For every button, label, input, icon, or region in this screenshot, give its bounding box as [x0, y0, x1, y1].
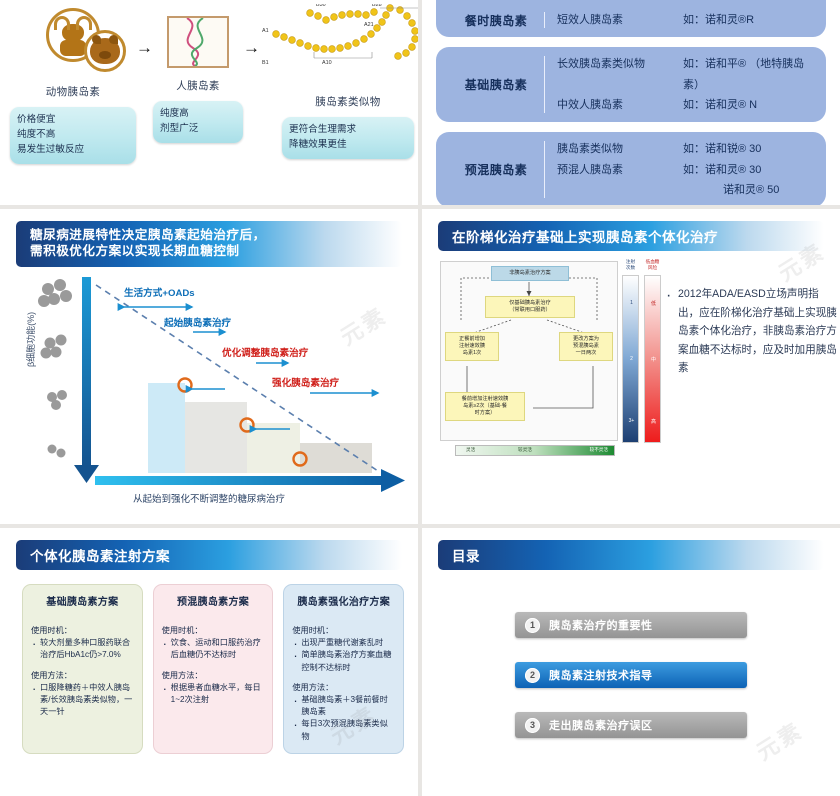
when-label: 使用时机： [162, 624, 265, 636]
toc-number: 1 [525, 618, 540, 633]
dna-helix-icon [167, 16, 229, 68]
evolution-column-animal: 动物胰岛素 价格便宜 纯度不高 易发生过敏反应 [10, 4, 136, 164]
beta-cell-chart: β细胞功能(%) 生活方式+OADs 起始胰岛素治疗 优化调整胰岛素治疗 强化胰… [0, 271, 418, 509]
flexibility-legend: 灵活 较灵活 较不灵活 [455, 445, 615, 456]
row-items: 短效人胰岛素 如：诺和灵®R [557, 10, 814, 30]
insulin-example: 诺和灵® 50 [723, 180, 779, 200]
toc-number: 2 [525, 668, 540, 683]
insulin-example: 如：诺和灵® N [683, 95, 757, 115]
list-item: 简单胰岛素治疗方案血糖控制不达标时 [292, 649, 395, 674]
slide-insulin-types: 餐时胰岛素 短效人胰岛素 如：诺和灵®R 基础胰岛素 长效胰岛素类似物 如：诺和… [422, 0, 840, 205]
flow-node-basal-only: 仅基础胰岛素治疗（常联用口服药） [485, 296, 575, 318]
tick: 2 [623, 356, 640, 362]
slide-table-of-contents: 目录 1 胰岛素治疗的重要性 2 胰岛素注射技术指导 3 走出胰岛素治疗误区 元… [422, 528, 840, 796]
regimen-card-basal: 基础胰岛素方案 使用时机： 较大剂量多种口服药联合治疗后HbA1c仍>7.0% … [22, 584, 143, 754]
algorithm-bullets: 2012年ADA/EASD立场声明指出，应在阶梯化治疗基础上实现胰岛素个体化治疗… [666, 285, 838, 378]
list-item: 2012年ADA/EASD立场声明指出，应在阶梯化治疗基础上实现胰岛素个体化治疗… [666, 285, 838, 378]
page-title: 在阶梯化治疗基础上实现胰岛素个体化治疗 [438, 221, 824, 251]
when-label: 使用时机： [31, 624, 134, 636]
bullets-animal-insulin: 价格便宜 纯度不高 易发生过敏反应 [10, 107, 136, 164]
evolution-diagram: 动物胰岛素 价格便宜 纯度不高 易发生过敏反应 → [0, 0, 418, 205]
slide-regimen-cards: 个体化胰岛素注射方案 基础胰岛素方案 使用时机： 较大剂量多种口服药联合治疗后H… [0, 528, 418, 796]
bracket-divider [544, 12, 545, 28]
when-list: 出现严重糖代谢紊乱时 简单胰岛素治疗方案血糖控制不达标时 [292, 637, 395, 674]
annotation-lifestyle-oads: 生活方式+OADs [124, 285, 195, 299]
svg-text:A10: A10 [322, 60, 332, 66]
annotation-optimize-insulin: 优化调整胰岛素治疗 [222, 345, 308, 359]
list-item: 每日3次预混胰岛素类似物 [292, 718, 395, 743]
injection-count-bar: 1 2 3+ [622, 275, 639, 443]
tick: 3+ [623, 418, 640, 424]
how-list: 基础胰岛素＋3餐前餐时胰岛素 每日3次预混胰岛素类似物 [292, 694, 395, 743]
x-axis-label: 从起始到强化不断调整的糖尿病治疗 [0, 491, 418, 505]
regimen-card-list: 基础胰岛素方案 使用时机： 较大剂量多种口服药联合治疗后HbA1c仍>7.0% … [0, 570, 418, 754]
insulin-kind: 胰岛素类似物 [557, 139, 683, 159]
insulin-kind: 预混人胰岛素 [557, 160, 683, 180]
insulin-example: 如：诺和锐® 30 [683, 139, 761, 159]
bullet: 更符合生理需求 [289, 123, 407, 138]
list-item: 较大剂量多种口服药联合治疗后HbA1c仍>7.0% [31, 637, 134, 662]
cow-pig-icon [10, 4, 136, 80]
insulin-example: 如：诺和灵®R [683, 10, 754, 30]
legend-label-semi-flexible: 较灵活 [518, 447, 532, 453]
caption-human-insulin: 人胰岛素 [153, 78, 243, 93]
card-heading: 基础胰岛素方案 [31, 593, 134, 608]
toc-number: 3 [525, 718, 540, 733]
insulin-kind [557, 180, 683, 200]
row-label: 餐时胰岛素 [448, 12, 544, 29]
legend-label-flexible: 灵活 [466, 447, 475, 453]
slide-beta-cell-decline: 糖尿病进展特性决定胰岛素起始治疗后， 需积极优化方案以实现长期血糖控制 [0, 209, 418, 524]
tick: 中 [645, 356, 662, 363]
table-row: 预混胰岛素 胰岛素类似物 如：诺和锐® 30 预混人胰岛素 如：诺和灵® 30 … [436, 132, 826, 205]
tick: 高 [645, 418, 662, 425]
row-items: 胰岛素类似物 如：诺和锐® 30 预混人胰岛素 如：诺和灵® 30 诺和灵® 5… [557, 139, 814, 200]
list-item: 口服降糖药＋中效人胰岛素/长效胰岛素类似物，一天一针 [31, 682, 134, 719]
insulin-chain-icon: A1A10A21 B1B10B20 B28B30 [260, 4, 418, 90]
slide-individualized-algorithm: 在阶梯化治疗基础上实现胰岛素个体化治疗 [422, 209, 840, 524]
bullet: 剂型广泛 [160, 122, 236, 137]
how-list: 口服降糖药＋中效人胰岛素/长效胰岛素类似物，一天一针 [31, 682, 134, 719]
y-axis-label: β细胞功能(%) [24, 312, 37, 367]
list-item: 预混人胰岛素 如：诺和灵® 30 [557, 160, 814, 180]
annotation-initiate-insulin: 起始胰岛素治疗 [164, 315, 231, 329]
insulin-example: 如：诺和平® （地特胰岛素） [683, 54, 814, 95]
regimen-card-intensive: 胰岛素强化治疗方案 使用时机： 出现严重糖代谢紊乱时 简单胰岛素治疗方案血糖控制… [283, 584, 404, 754]
when-label: 使用时机： [292, 624, 395, 636]
insulin-type-table: 餐时胰岛素 短效人胰岛素 如：诺和灵®R 基础胰岛素 长效胰岛素类似物 如：诺和… [422, 0, 840, 205]
legend-label-less-flexible: 较不灵活 [590, 447, 608, 453]
toc-item-2[interactable]: 2 胰岛素注射技术指导 [515, 662, 747, 688]
annotation-intensify-insulin: 强化胰岛素治疗 [272, 375, 339, 389]
how-list: 根据患者血糖水平，每日1~2次注射 [162, 682, 265, 707]
caption-animal-insulin: 动物胰岛素 [10, 84, 136, 99]
table-row: 餐时胰岛素 短效人胰岛素 如：诺和灵®R [436, 0, 826, 37]
list-item: 诺和灵® 50 [557, 180, 814, 200]
toc-label: 走出胰岛素治疗误区 [549, 717, 653, 733]
bullet: 纯度高 [160, 107, 236, 122]
list-item: 胰岛素类似物 如：诺和锐® 30 [557, 139, 814, 159]
when-list: 较大剂量多种口服药联合治疗后HbA1c仍>7.0% [31, 637, 134, 662]
flow-node-basal-bolus: 餐前增加注射速效胰岛素≥2次（基础-餐时方案） [445, 392, 525, 421]
bullet: 易发生过敏反应 [17, 143, 129, 158]
toc-label: 胰岛素注射技术指导 [549, 667, 653, 683]
toc-item-3[interactable]: 3 走出胰岛素治疗误区 [515, 712, 747, 738]
title-line-1: 糖尿病进展特性决定胰岛素起始治疗后， [30, 228, 266, 244]
bullets-human-insulin: 纯度高 剂型广泛 [153, 101, 243, 143]
when-list: 饮食、运动和口服药治疗后血糖仍不达标时 [162, 637, 265, 662]
arrow-icon: → [136, 4, 153, 58]
arrow-icon-2: → [243, 4, 260, 58]
list-item: 根据患者血糖水平，每日1~2次注射 [162, 682, 265, 707]
title-line-2: 需积极优化方案以实现长期血糖控制 [30, 244, 240, 260]
svg-text:A21: A21 [364, 22, 374, 28]
caption-insulin-analog: 胰岛素类似物 [260, 94, 418, 109]
slide-deck: 动物胰岛素 价格便宜 纯度不高 易发生过敏反应 → [0, 0, 840, 796]
how-label: 使用方法： [292, 681, 395, 693]
bracket-divider [544, 141, 545, 198]
table-row: 基础胰岛素 长效胰岛素类似物 如：诺和平® （地特胰岛素） 中效人胰岛素 如：诺… [436, 47, 826, 122]
toc-label: 胰岛素治疗的重要性 [549, 617, 653, 633]
tick: 低 [645, 300, 662, 307]
list-item: 中效人胰岛素 如：诺和灵® N [557, 95, 814, 115]
list-item: 出现严重糖代谢紊乱时 [292, 637, 395, 649]
bullet: 降糖效果更佳 [289, 138, 407, 153]
toc-list: 1 胰岛素治疗的重要性 2 胰岛素注射技术指导 3 走出胰岛素治疗误区 [422, 570, 840, 738]
insulin-kind: 短效人胰岛素 [557, 10, 683, 30]
tick: 1 [623, 300, 640, 306]
page-title: 目录 [438, 540, 824, 570]
list-item: 饮食、运动和口服药治疗后血糖仍不达标时 [162, 637, 265, 662]
hypo-bar-caption: 低血糖风险 [644, 259, 661, 270]
flow-node-header: 非胰岛素治疗方案 [491, 266, 569, 281]
insulin-kind: 长效胰岛素类似物 [557, 54, 683, 95]
hypoglycemia-risk-bar: 低 中 高 [644, 275, 661, 443]
how-label: 使用方法： [31, 669, 134, 681]
svg-text:A1: A1 [262, 28, 269, 34]
svg-text:B1: B1 [262, 60, 269, 66]
evolution-column-human: 人胰岛素 纯度高 剂型广泛 [153, 4, 243, 143]
list-item: 短效人胰岛素 如：诺和灵®R [557, 10, 814, 30]
card-heading: 胰岛素强化治疗方案 [292, 593, 395, 608]
svg-text:B30: B30 [316, 4, 326, 8]
row-items: 长效胰岛素类似物 如：诺和平® （地特胰岛素） 中效人胰岛素 如：诺和灵® N [557, 54, 814, 115]
how-label: 使用方法： [162, 669, 265, 681]
row-label: 基础胰岛素 [448, 76, 544, 93]
slide-insulin-evolution: 动物胰岛素 价格便宜 纯度不高 易发生过敏反应 → [0, 0, 418, 205]
regimen-card-premix: 预混胰岛素方案 使用时机： 饮食、运动和口服药治疗后血糖仍不达标时 使用方法： … [153, 584, 274, 754]
flow-canvas: 非胰岛素治疗方案 仅基础胰岛素治疗（常联用口服药） 正餐前增加注射速效胰岛素1次… [440, 261, 618, 441]
page-title: 个体化胰岛素注射方案 [16, 540, 402, 570]
card-heading: 预混胰岛素方案 [162, 593, 265, 608]
bullet: 价格便宜 [17, 113, 129, 128]
insulin-kind: 中效人胰岛素 [557, 95, 683, 115]
svg-text:B28: B28 [372, 4, 382, 8]
bracket-divider [544, 56, 545, 113]
flow-node-switch-premix: 更改方案为预混胰岛素一日两次 [559, 332, 613, 361]
flow-node-add-one-rapid: 正餐前增加注射速效胰岛素1次 [445, 332, 499, 361]
evolution-column-analog: A1A10A21 B1B10B20 B28B30 胰岛素类似物 更符合生理需求 … [260, 4, 418, 159]
bullet: 纯度不高 [17, 128, 129, 143]
algorithm-flowchart: 非胰岛素治疗方案 仅基础胰岛素治疗（常联用口服药） 正餐前增加注射速效胰岛素1次… [436, 257, 830, 472]
list-item: 长效胰岛素类似物 如：诺和平® （地特胰岛素） [557, 54, 814, 95]
toc-item-1[interactable]: 1 胰岛素治疗的重要性 [515, 612, 747, 638]
injection-bar-caption: 注射次数 [622, 259, 639, 270]
page-title: 糖尿病进展特性决定胰岛素起始治疗后， 需积极优化方案以实现长期血糖控制 [16, 221, 402, 267]
bullets-insulin-analog: 更符合生理需求 降糖效果更佳 [282, 117, 414, 159]
insulin-example: 如：诺和灵® 30 [683, 160, 761, 180]
list-item: 基础胰岛素＋3餐前餐时胰岛素 [292, 694, 395, 719]
row-label: 预混胰岛素 [448, 161, 544, 178]
